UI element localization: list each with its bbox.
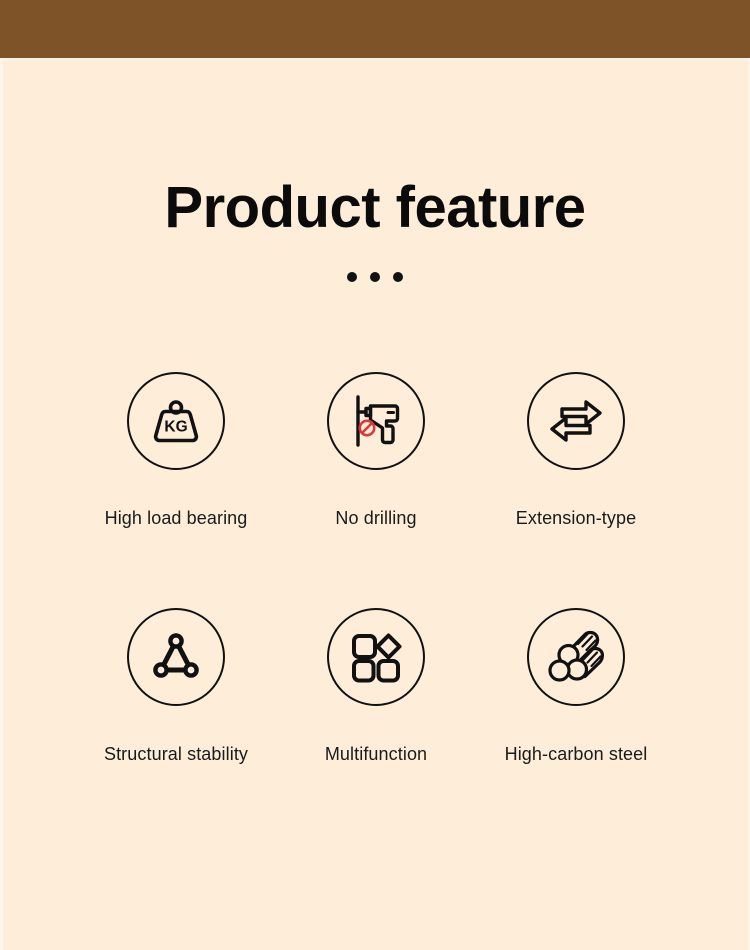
feature-item-no-drilling: No drilling: [276, 372, 476, 608]
separator-dots: [0, 272, 750, 282]
no-drilling-icon: [327, 372, 425, 470]
shapes-grid-icon: [327, 608, 425, 706]
top-brown-band: [0, 0, 750, 58]
svg-text:KG: KG: [164, 419, 187, 436]
feature-label: Multifunction: [325, 744, 427, 765]
feature-item-high-load-bearing: KG High load bearing: [76, 372, 276, 608]
feature-grid: KG High load bearing: [76, 372, 676, 844]
feature-item-multifunction: Multifunction: [276, 608, 476, 844]
dot-1: [347, 272, 357, 282]
feature-label: High load bearing: [105, 508, 248, 529]
triangle-nodes-icon: [127, 608, 225, 706]
feature-item-structural-stability: Structural stability: [76, 608, 276, 844]
feature-label: Structural stability: [104, 744, 248, 765]
dot-3: [393, 272, 403, 282]
bidirectional-arrows-icon: [527, 372, 625, 470]
feature-item-extension-type: Extension-type: [476, 372, 676, 608]
product-feature-page: Product feature KG High load bearing: [0, 0, 750, 950]
band-shadow: [0, 58, 750, 62]
page-title: Product feature: [0, 178, 750, 239]
feature-item-high-carbon-steel: High-carbon steel: [476, 608, 676, 844]
steel-tubes-icon: [527, 608, 625, 706]
feature-label: Extension-type: [516, 508, 636, 529]
dot-2: [370, 272, 380, 282]
feature-label: High-carbon steel: [505, 744, 648, 765]
feature-label: No drilling: [335, 508, 416, 529]
kg-weight-icon: KG: [127, 372, 225, 470]
